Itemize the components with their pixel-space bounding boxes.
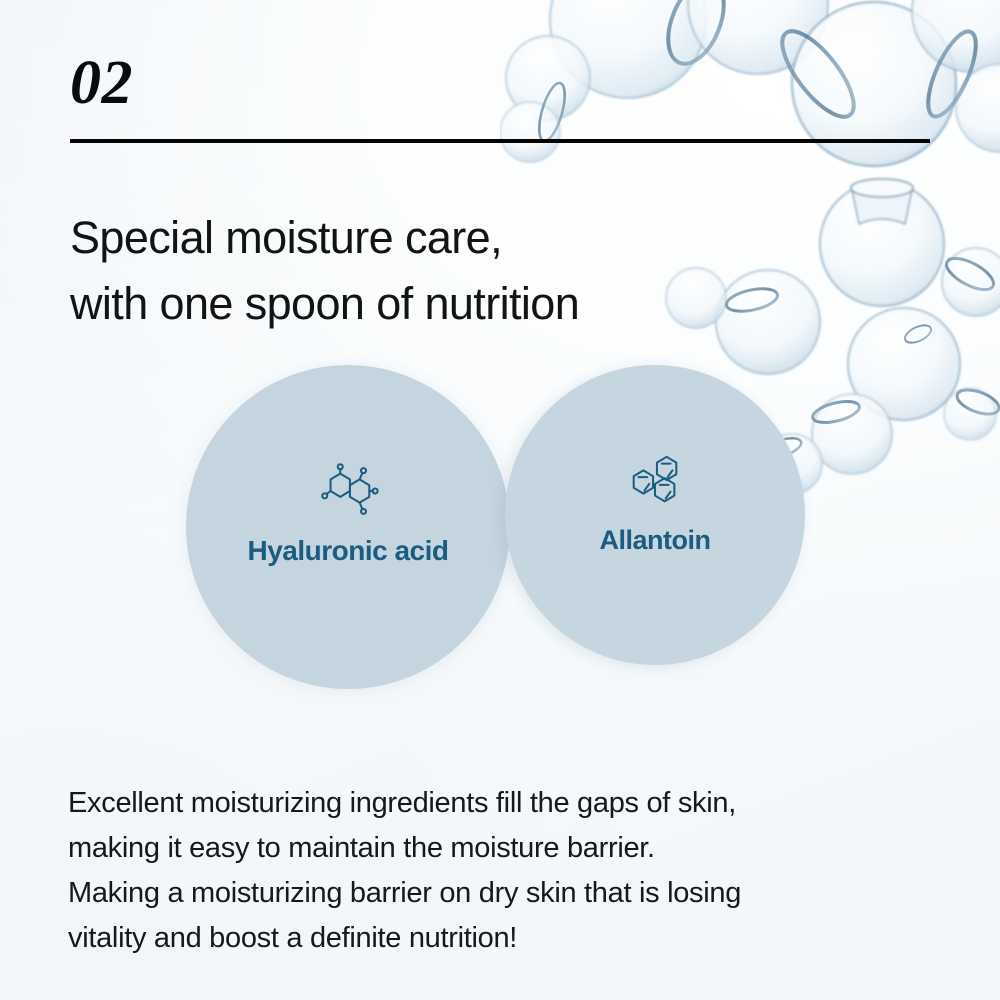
ingredient-circle-allantoin: Allantoin (505, 365, 805, 665)
ingredient-label: Hyaluronic acid (247, 535, 448, 567)
three-hexagons-icon (624, 451, 686, 513)
ingredient-label: Allantoin (600, 525, 711, 556)
body-description: Excellent moisturizing ingredients fill … (68, 781, 948, 961)
promo-page: 02 Special moisture care, with one spoon… (0, 0, 1000, 1000)
ingredient-circle-hyaluronic-acid: Hyaluronic acid (186, 365, 510, 689)
molecule-hexagon-bonds-icon (317, 461, 379, 523)
